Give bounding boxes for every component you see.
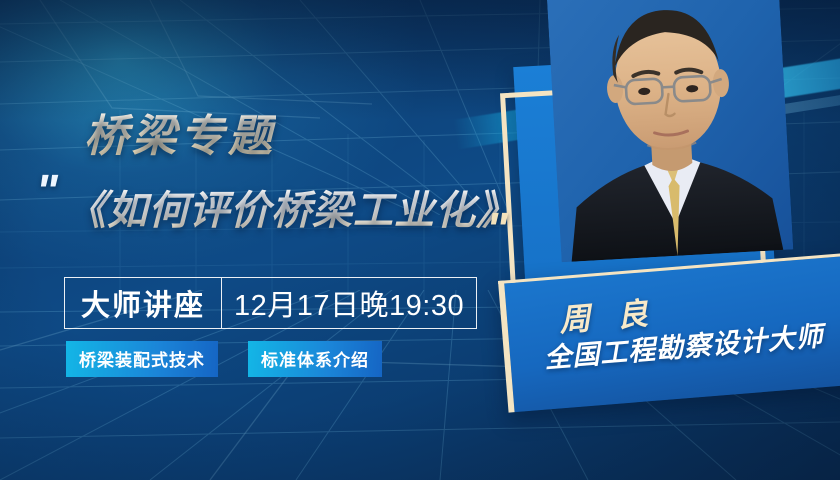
topic-tag[interactable]: 桥梁装配式技术	[66, 341, 218, 377]
quote-close-icon: "	[486, 206, 504, 252]
topic-tag[interactable]: 标准体系介绍	[248, 341, 382, 377]
lecture-promo-poster: " 桥梁专题 《如何评价桥梁工业化》 " 大师讲座 12月17日晚19:30 桥…	[0, 0, 840, 480]
lecture-datetime: 12月17日晚19:30	[222, 278, 476, 328]
speaker-banner: 周 良 全国工程勘察设计大师	[498, 253, 840, 412]
speaker-portrait-photo	[547, 0, 794, 262]
page-subtitle: 《如何评价桥梁工业化》	[66, 178, 517, 236]
page-title: 桥梁专题	[84, 100, 276, 164]
lecture-type-label: 大师讲座	[65, 278, 221, 328]
topic-tag-list: 桥梁装配式技术 标准体系介绍	[66, 341, 382, 377]
lecture-info-box: 大师讲座 12月17日晚19:30	[64, 277, 477, 329]
quote-open-icon: "	[36, 168, 54, 214]
